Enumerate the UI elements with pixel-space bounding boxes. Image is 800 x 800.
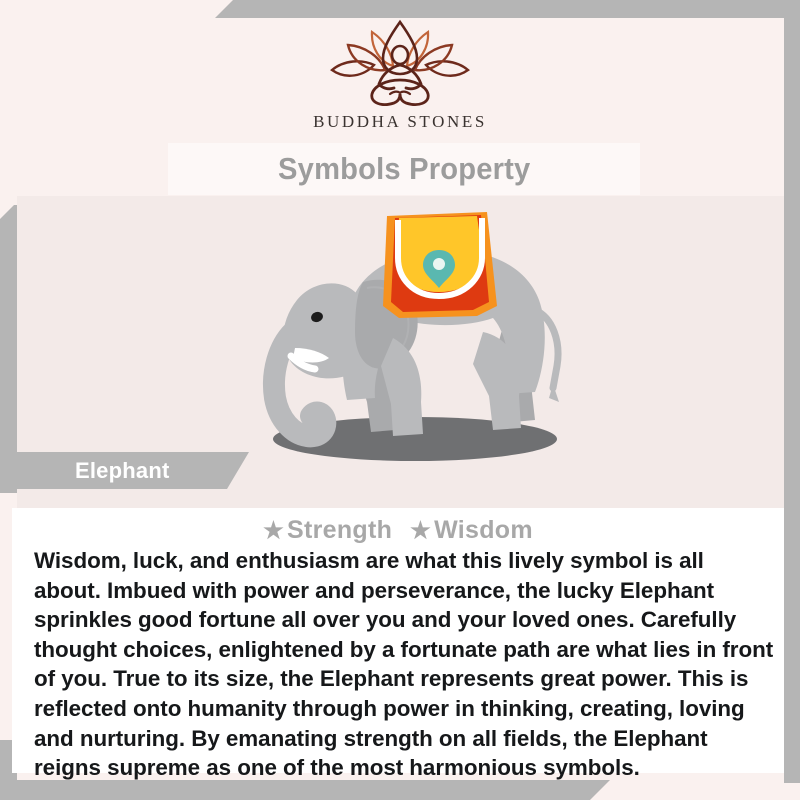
symbol-name-label: Elephant [75, 458, 170, 484]
star-icon: ★ [410, 517, 431, 543]
attribute-wisdom: Wisdom [434, 516, 533, 544]
page-title: Symbols Property [278, 151, 530, 187]
attribute-strength: Strength [287, 516, 392, 544]
walking-elephant-illustration [235, 206, 585, 496]
symbol-name-tab: Elephant [17, 452, 249, 489]
title-band: Symbols Property [168, 143, 640, 195]
description-panel: ★Strength★Wisdom Wisdom, luck, and enthu… [12, 508, 784, 773]
symbol-property-card: BUDDHA STONES Symbols Property [0, 0, 800, 800]
brand-name: BUDDHA STONES [295, 112, 505, 132]
symbol-description: Wisdom, luck, and enthusiasm are what th… [34, 546, 774, 783]
frame-left-strip [0, 205, 17, 493]
attribute-list: ★Strength★Wisdom [12, 508, 784, 545]
frame-bottom-bar [0, 780, 610, 800]
lotus-meditation-icon [324, 18, 476, 110]
brand-logo: BUDDHA STONES [295, 18, 505, 132]
star-icon: ★ [263, 517, 284, 543]
brand-header: BUDDHA STONES [0, 0, 800, 148]
